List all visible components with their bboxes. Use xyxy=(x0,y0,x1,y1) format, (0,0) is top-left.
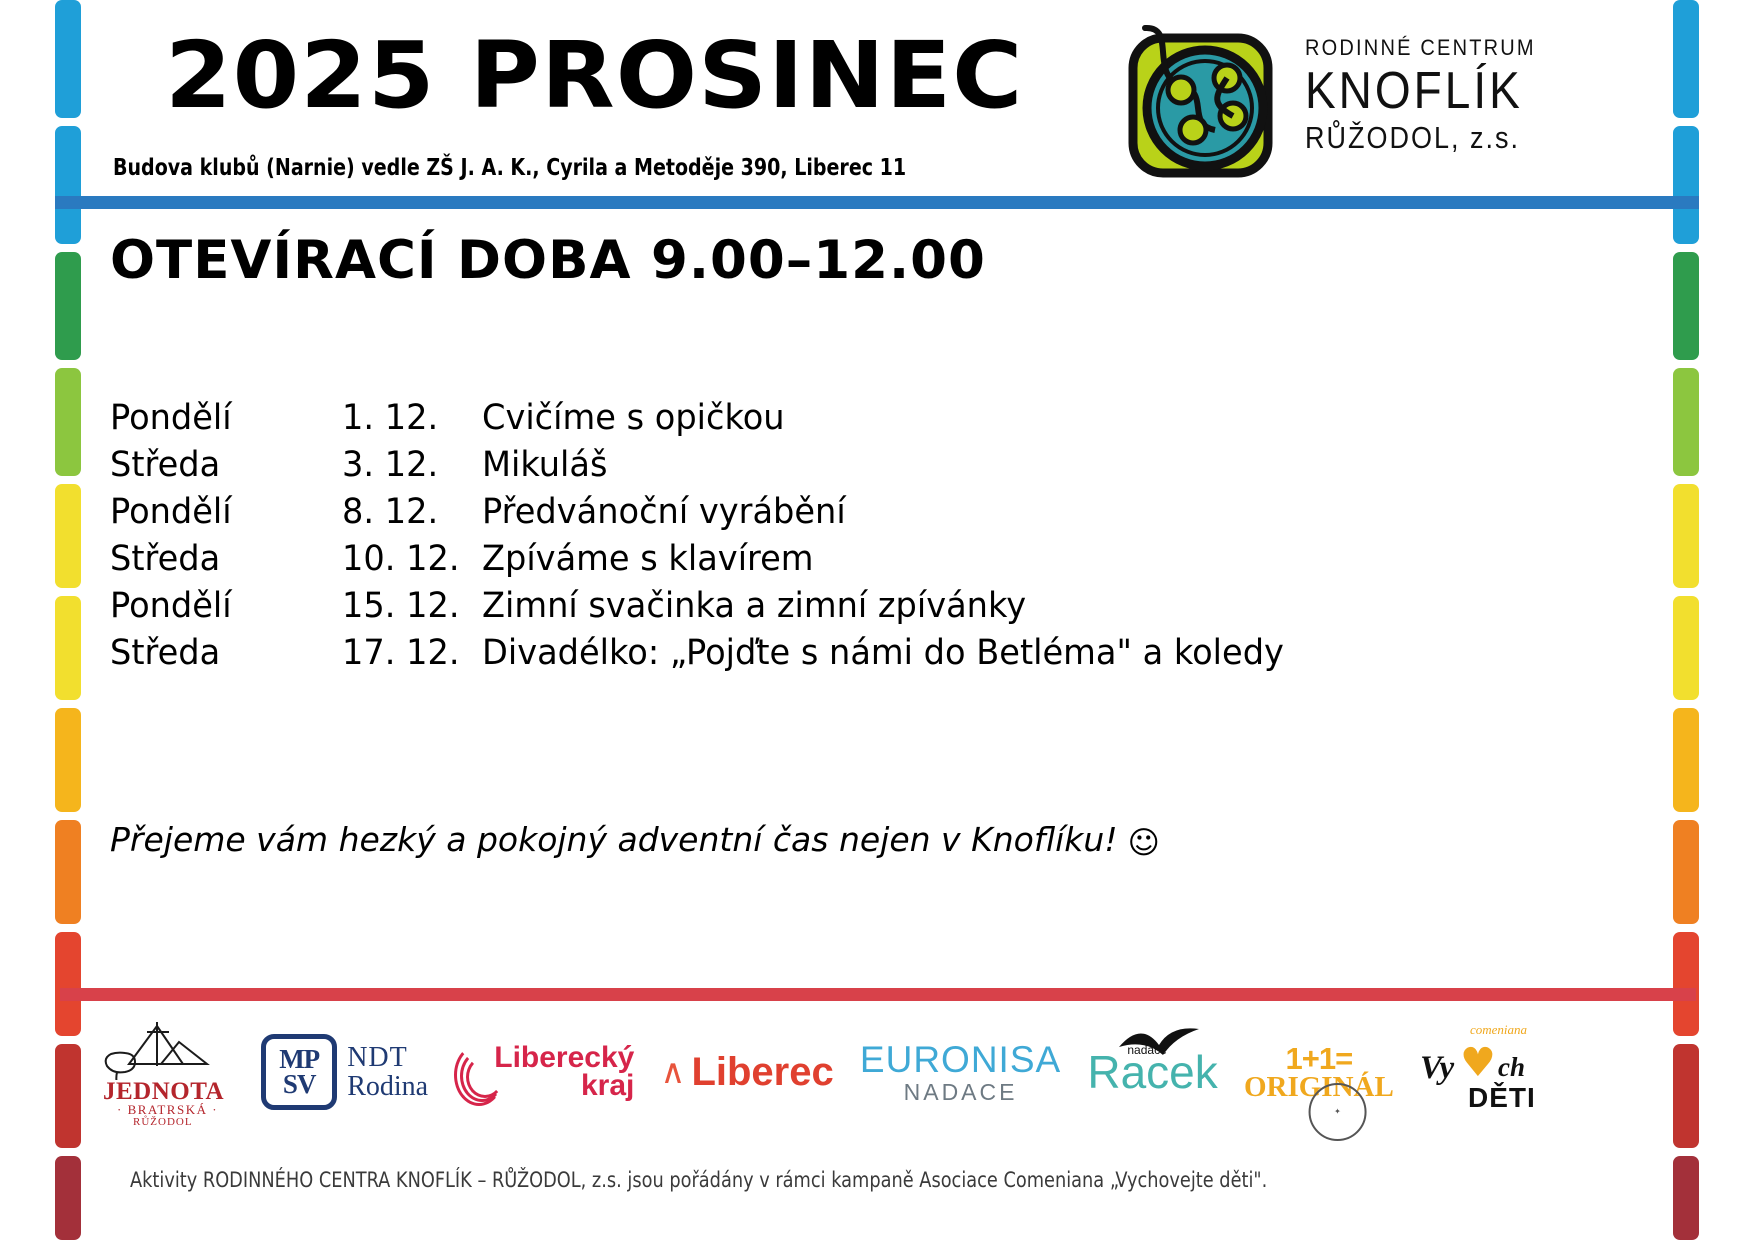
button-thread-icon xyxy=(1115,12,1290,187)
opening-hours: OTEVÍRACÍ DOBA 9.00–12.00 xyxy=(110,230,986,291)
sponsor-logo-jednota: JEDNOTA · BRATRSKÁ · RŮŽODOL xyxy=(95,1017,235,1127)
libkraj-line-1: Liberecký xyxy=(494,1044,634,1073)
sponsor-logo-mpsv: MP SV NDT Rodina xyxy=(261,1017,428,1127)
closing-message: Přejeme vám hezký a pokojný adventní čas… xyxy=(110,820,1160,861)
rail-segment xyxy=(1673,932,1699,1036)
mpsv-line-2: SV xyxy=(283,1072,316,1097)
schedule-day: Pondělí xyxy=(110,492,232,532)
logo-line-2: KNOFLÍK xyxy=(1305,63,1565,117)
schedule-event: Cvičíme s opičkou xyxy=(482,398,785,438)
ndt-line-1: NDT xyxy=(347,1043,428,1072)
schedule-event: Mikuláš xyxy=(482,445,607,485)
footer-divider xyxy=(60,988,1696,1001)
rail-segment xyxy=(1673,252,1699,360)
page-title: 2025 PROSINEC xyxy=(165,22,1023,129)
logo-line-3: RŮŽODOL, z.s. xyxy=(1305,121,1565,156)
rail-segment xyxy=(1673,708,1699,812)
poster: 2025 PROSINEC Budova klubů (Narnie) vedl… xyxy=(0,0,1754,1240)
sponsor-logo-liberec: ∧ Liberec xyxy=(661,1017,834,1127)
rail-segment xyxy=(55,368,81,476)
rail-segment xyxy=(55,484,81,588)
rail-segment xyxy=(55,932,81,1036)
schedule-day: Středa xyxy=(110,539,220,579)
schedule-date: 17. 12. xyxy=(342,633,460,673)
rail-segment xyxy=(1673,1156,1699,1240)
rail-segment xyxy=(55,596,81,700)
schedule-date: 15. 12. xyxy=(342,586,460,626)
schedule-date: 3. 12. xyxy=(342,445,438,485)
organization-logo: RODINNÉ CENTRUM KNOFLÍK RŮŽODOL, z.s. xyxy=(1115,8,1565,193)
sponsor-logo-original: 1+1= ORIGINÁL ✦ xyxy=(1244,1017,1394,1127)
schedule-event: Předvánoční vyrábění xyxy=(482,492,846,532)
mpsv-badge: MP SV xyxy=(261,1034,337,1110)
rail-segment xyxy=(55,708,81,812)
sponsor-logo-racek: nadace Racek xyxy=(1087,1017,1217,1127)
rail-segment xyxy=(1673,484,1699,588)
rail-segment xyxy=(1673,368,1699,476)
sponsor-logo-libereckykraj: Liberecký kraj xyxy=(454,1017,634,1127)
schedule-row: Pondělí 1. 12. Cvičíme s opičkou xyxy=(110,398,1410,445)
schedule-event: Zpíváme s klavírem xyxy=(482,539,814,579)
heart-icon: ♥ xyxy=(1460,1040,1496,1086)
rainbow-rail-right xyxy=(1673,0,1699,1240)
euronisa-line-1: EURONISA xyxy=(860,1039,1061,1081)
vychovejte-part-2: ch xyxy=(1498,1052,1525,1083)
racek-small-label: nadace xyxy=(1127,1043,1166,1057)
schedule-row: Středa 10. 12. Zpíváme s klavírem xyxy=(110,539,1410,586)
sponsor-logo-euronisa: EURONISA NADACE xyxy=(860,1017,1061,1127)
rail-segment xyxy=(55,1156,81,1240)
schedule-day: Středa xyxy=(110,445,220,485)
vychovejte-part-3: DĚTI xyxy=(1468,1082,1536,1114)
schedule-day: Pondělí xyxy=(110,586,232,626)
schedule-list: Pondělí 1. 12. Cvičíme s opičkou Středa … xyxy=(110,398,1410,680)
libkraj-line-2: kraj xyxy=(494,1072,634,1101)
schedule-date: 10. 12. xyxy=(342,539,460,579)
schedule-row: Středa 17. 12. Divadélko: „Pojďte s námi… xyxy=(110,633,1410,680)
rail-segment xyxy=(1673,820,1699,924)
footer-note: Aktivity RODINNÉHO CENTRA KNOFLÍK – RŮŽO… xyxy=(130,1168,1267,1192)
comeniana-label: comeniana xyxy=(1470,1022,1527,1038)
schedule-row: Pondělí 15. 12. Zimní svačinka a zimní z… xyxy=(110,586,1410,633)
rail-segment xyxy=(55,0,81,118)
poster-header: 2025 PROSINEC Budova klubů (Narnie) vedl… xyxy=(95,0,1565,200)
schedule-date: 1. 12. xyxy=(342,398,438,438)
smiley-icon: ☺ xyxy=(1128,825,1160,861)
rail-segment xyxy=(1673,0,1699,118)
rail-segment xyxy=(1673,126,1699,244)
schedule-row: Středa 3. 12. Mikuláš xyxy=(110,445,1410,492)
rail-segment xyxy=(55,252,81,360)
schedule-day: Pondělí xyxy=(110,398,232,438)
vychovejte-part-1: Vy xyxy=(1420,1050,1454,1087)
rail-segment xyxy=(55,820,81,924)
rail-segment xyxy=(1673,596,1699,700)
liberec-wordmark: Liberec xyxy=(691,1050,833,1095)
schedule-event: Zimní svačinka a zimní zpívánky xyxy=(482,586,1026,626)
logo-line-1: RODINNÉ CENTRUM xyxy=(1305,36,1565,62)
jednota-sub2: RŮŽODOL xyxy=(133,1116,193,1128)
chevron-up-icon: ∧ xyxy=(661,1052,686,1092)
schedule-date: 8. 12. xyxy=(342,492,438,532)
sponsor-logo-vychovejte-deti: comeniana Vy ♥ ch DĚTI xyxy=(1420,1017,1565,1127)
venue-address: Budova klubů (Narnie) vedle ZŠ J. A. K.,… xyxy=(113,155,906,181)
euronisa-line-2: NADACE xyxy=(860,1079,1061,1106)
rainbow-rail-left xyxy=(55,0,81,1240)
rail-segment xyxy=(1673,1044,1699,1148)
logo-wordmark: RODINNÉ CENTRUM KNOFLÍK RŮŽODOL, z.s. xyxy=(1305,36,1565,152)
comeniana-stamp-icon: ✦ xyxy=(1308,1083,1366,1141)
rail-segment xyxy=(55,1044,81,1148)
sponsor-strip: JEDNOTA · BRATRSKÁ · RŮŽODOL MP SV NDT R… xyxy=(95,1012,1565,1132)
schedule-day: Středa xyxy=(110,633,220,673)
schedule-event: Divadélko: „Pojďte s námi do Betléma" a … xyxy=(482,633,1284,673)
ndt-line-2: Rodina xyxy=(347,1072,428,1101)
rail-segment xyxy=(55,126,81,244)
closing-text: Přejeme vám hezký a pokojný adventní čas… xyxy=(110,820,1118,859)
header-divider xyxy=(55,196,1699,209)
arcs-icon xyxy=(454,1042,492,1102)
schedule-row: Pondělí 8. 12. Předvánoční vyrábění xyxy=(110,492,1410,539)
